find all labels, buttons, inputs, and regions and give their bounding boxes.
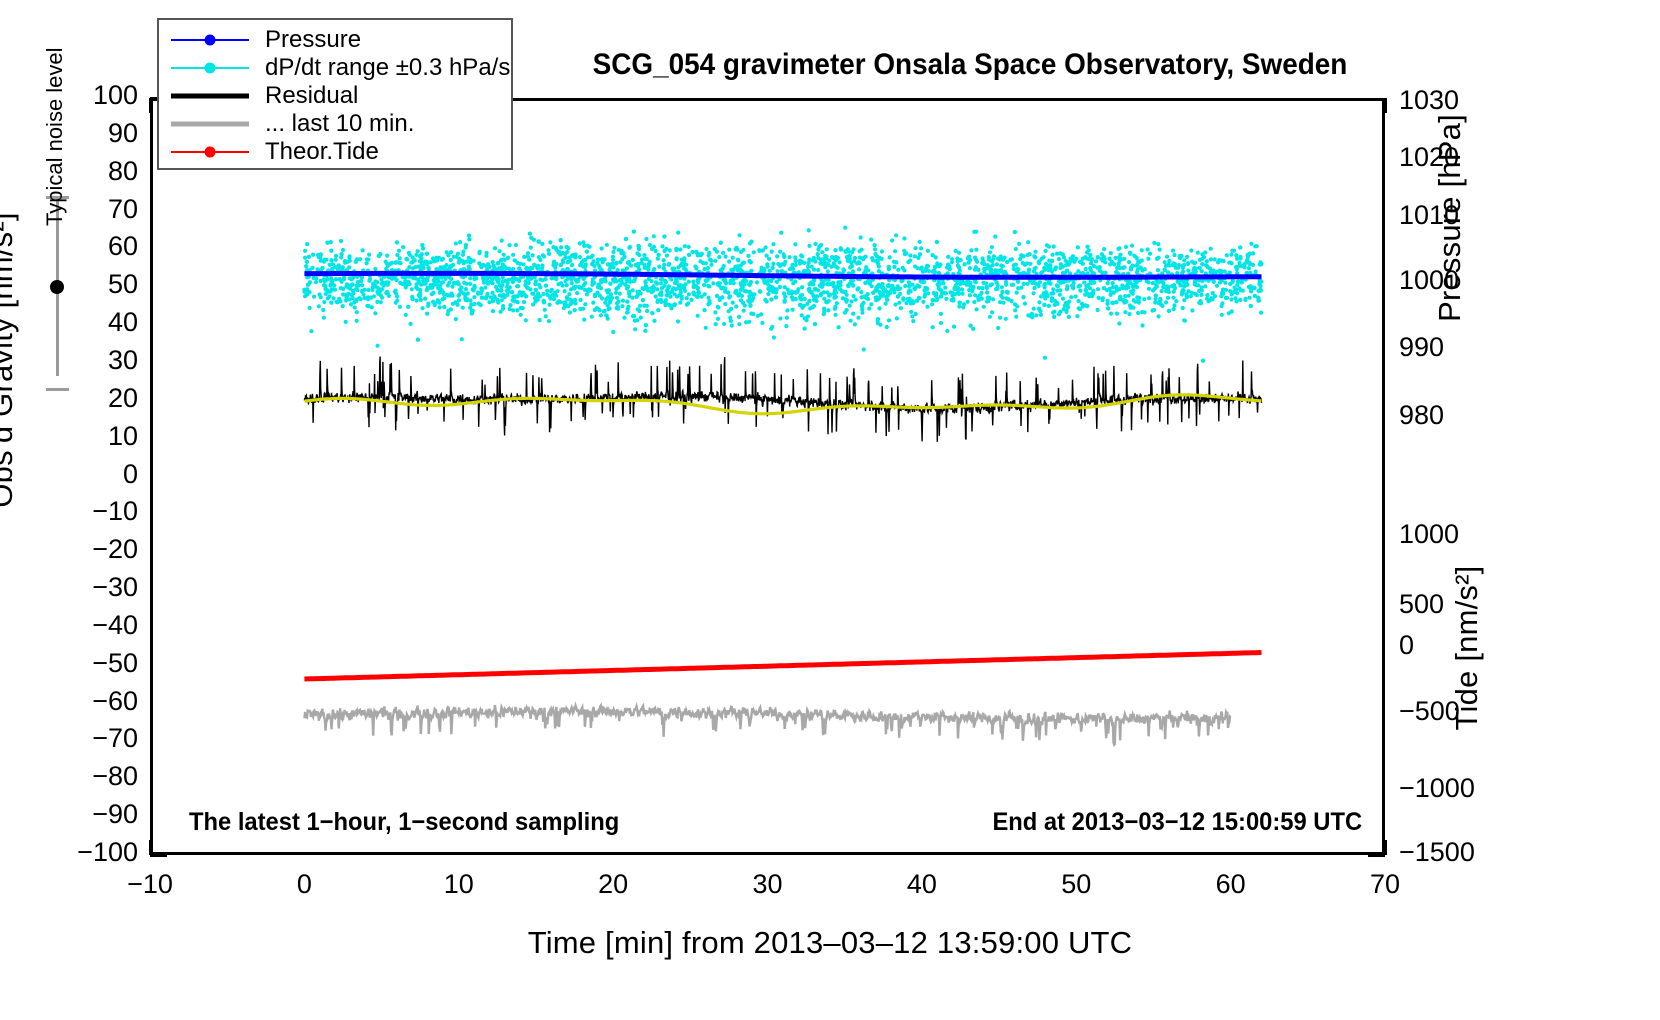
legend-key-icon [167,142,253,162]
x-tick-label: 40 [862,869,982,900]
pressure-tick-label: 1000 [1399,265,1529,296]
legend-marker-dot [205,147,216,158]
legend-item-label: Theor.Tide [265,138,379,166]
legend-key-icon [167,114,253,134]
legend-marker-dot [205,63,216,74]
x-tick-label: 50 [1016,869,1136,900]
x-tick-label: 20 [553,869,673,900]
legend-item-label: Residual [265,82,358,110]
x-tick-label: 10 [399,869,519,900]
legend-key-icon [167,58,253,78]
y-tick-label: −40 [18,610,138,641]
plot-area: The latest 1−hour, 1−second sampling End… [150,98,1385,855]
y-tick-label: 90 [18,118,138,149]
y-tick-label: 10 [18,421,138,452]
residual-line [304,357,1261,442]
pressure-tick-label: 1030 [1399,85,1529,116]
legend-item-1[interactable]: dP/dt range ±0.3 hPa/s [159,54,511,82]
legend-item-3[interactable]: ... last 10 min. [159,110,511,138]
chart-legend: PressuredP/dt range ±0.3 hPa/sResidual..… [157,18,513,170]
dpdt-scatter-points [302,226,1263,363]
legend-line-swatch [171,122,249,127]
series-canvas [153,101,1382,852]
y-tick-label: −80 [18,761,138,792]
legend-marker-dot [205,35,216,46]
tide-tick-label: −500 [1399,696,1529,727]
legend-key-icon [167,86,253,106]
tide-tick-label: −1500 [1399,837,1529,868]
theoretical-tide-line [304,653,1261,680]
pressure-tick-label: 1020 [1399,142,1529,173]
last-10-min-line [304,705,1230,745]
chart-page: PressuredP/dt range ±0.3 hPa/sResidual..… [0,0,1660,1020]
legend-line-swatch [171,94,249,99]
noise-label: Typical noise level [42,46,68,226]
y-tick-label: −60 [18,686,138,717]
legend-item-4[interactable]: Theor.Tide [159,138,511,166]
footer-note-right: End at 2013−03−12 15:00:59 UTC [992,808,1362,837]
y-tick-label: 80 [18,156,138,187]
tide-tick-label: 500 [1399,589,1529,620]
chart-title: SCG_054 gravimeter Onsala Space Observat… [552,48,1389,82]
tide-tick-label: 0 [1399,630,1529,661]
y-tick-label: −20 [18,534,138,565]
pressure-tick-label: 980 [1399,400,1529,431]
y-tick-label: −90 [18,799,138,830]
x-tick-label: 60 [1171,869,1291,900]
y-tick-label: −30 [18,572,138,603]
x-tick-label: 70 [1325,869,1445,900]
tide-tick-label: −1000 [1399,773,1529,804]
y-tick-label: −50 [18,648,138,679]
y-tick-label: 100 [18,80,138,111]
legend-item-label: dP/dt range ±0.3 hPa/s [265,54,510,82]
typical-noise-level-annotation: Typical noise level [40,196,160,391]
pressure-tick-label: 990 [1399,332,1529,363]
data-series-svg [153,101,1382,852]
legend-item-label: ... last 10 min. [265,110,414,138]
x-tick-label: −10 [90,869,210,900]
legend-key-icon [167,30,253,50]
tide-tick-label: 1000 [1399,519,1529,550]
y-axis-label-left: Obs’d Gravity [nm/s²] [0,80,20,640]
y-tick-label: −100 [18,837,138,868]
y-tick-label: 0 [18,459,138,490]
y-tick-label: −10 [18,496,138,527]
x-axis-label: Time [min] from 2013–03–12 13:59:00 UTC [0,925,1660,961]
pressure-tick-label: 1010 [1399,200,1529,231]
x-tick-label: 0 [244,869,364,900]
legend-item-label: Pressure [265,26,361,54]
y-tick-label: −70 [18,723,138,754]
legend-item-0[interactable]: Pressure [159,26,511,54]
legend-item-2[interactable]: Residual [159,82,511,110]
noise-center-dot [50,280,64,294]
footer-note-left: The latest 1−hour, 1−second sampling [189,808,619,837]
x-tick-label: 30 [708,869,828,900]
noise-errorbar-cap-bottom [46,388,69,391]
